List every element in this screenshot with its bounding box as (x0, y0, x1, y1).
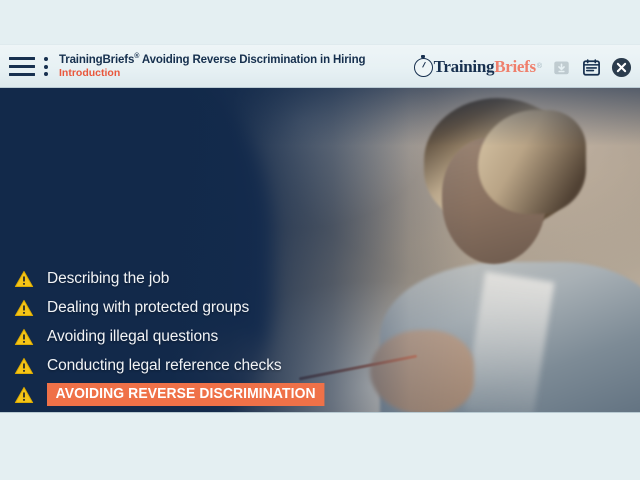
kebab-dot (44, 72, 48, 76)
notes-icon[interactable] (581, 57, 602, 78)
training-module-player: TrainingBriefs® Avoiding Reverse Discrim… (0, 0, 640, 480)
list-item[interactable]: Describing the job (14, 264, 354, 293)
warning-triangle-icon (14, 357, 34, 375)
objectives-list: Describing the job Dealing with protecte… (14, 264, 354, 409)
warning-triangle-icon (14, 386, 34, 404)
hamburger-line (9, 73, 35, 76)
course-title-brand: TrainingBriefs (59, 54, 134, 66)
close-icon[interactable] (611, 57, 632, 78)
brand-word-second: Briefs (494, 57, 536, 76)
list-item-active[interactable]: AVOIDING REVERSE DISCRIMINATION (14, 380, 354, 409)
list-item-label: Conducting legal reference checks (47, 357, 282, 375)
stopwatch-icon (414, 58, 433, 77)
download-icon[interactable] (551, 57, 572, 78)
header-actions: TrainingBriefs ® (414, 45, 632, 89)
kebab-dot (44, 57, 48, 61)
hamburger-line (9, 65, 35, 68)
warning-triangle-icon (14, 299, 34, 317)
trainingbriefs-logo: TrainingBriefs ® (414, 57, 542, 77)
player-header: TrainingBriefs® Avoiding Reverse Discrim… (0, 44, 640, 88)
list-item-label: Avoiding illegal questions (47, 328, 218, 346)
brand-wordmark: TrainingBriefs (434, 57, 536, 77)
kebab-dot (44, 65, 48, 69)
hamburger-menu-icon[interactable] (9, 57, 35, 76)
list-item[interactable]: Avoiding illegal questions (14, 322, 354, 351)
hamburger-line (9, 57, 35, 60)
list-item-label: Dealing with protected groups (47, 299, 249, 317)
brand-word-first: Training (434, 57, 495, 76)
list-item[interactable]: Dealing with protected groups (14, 293, 354, 322)
list-item[interactable]: Conducting legal reference checks (14, 351, 354, 380)
course-title-rest: Avoiding Reverse Discrimination in Hirin… (139, 54, 365, 66)
course-title: TrainingBriefs® Avoiding Reverse Discrim… (59, 54, 365, 66)
slide-overlay-top (0, 88, 640, 146)
course-section-label: Introduction (59, 68, 365, 79)
list-item-label: Describing the job (47, 270, 169, 288)
warning-triangle-icon (14, 270, 34, 288)
kebab-menu-icon[interactable] (43, 57, 49, 76)
stage-divider (0, 412, 640, 413)
list-item-label: AVOIDING REVERSE DISCRIMINATION (47, 383, 324, 406)
course-title-block: TrainingBriefs® Avoiding Reverse Discrim… (59, 54, 365, 79)
warning-triangle-icon (14, 328, 34, 346)
slide-stage: Describing the job Dealing with protecte… (0, 88, 640, 412)
